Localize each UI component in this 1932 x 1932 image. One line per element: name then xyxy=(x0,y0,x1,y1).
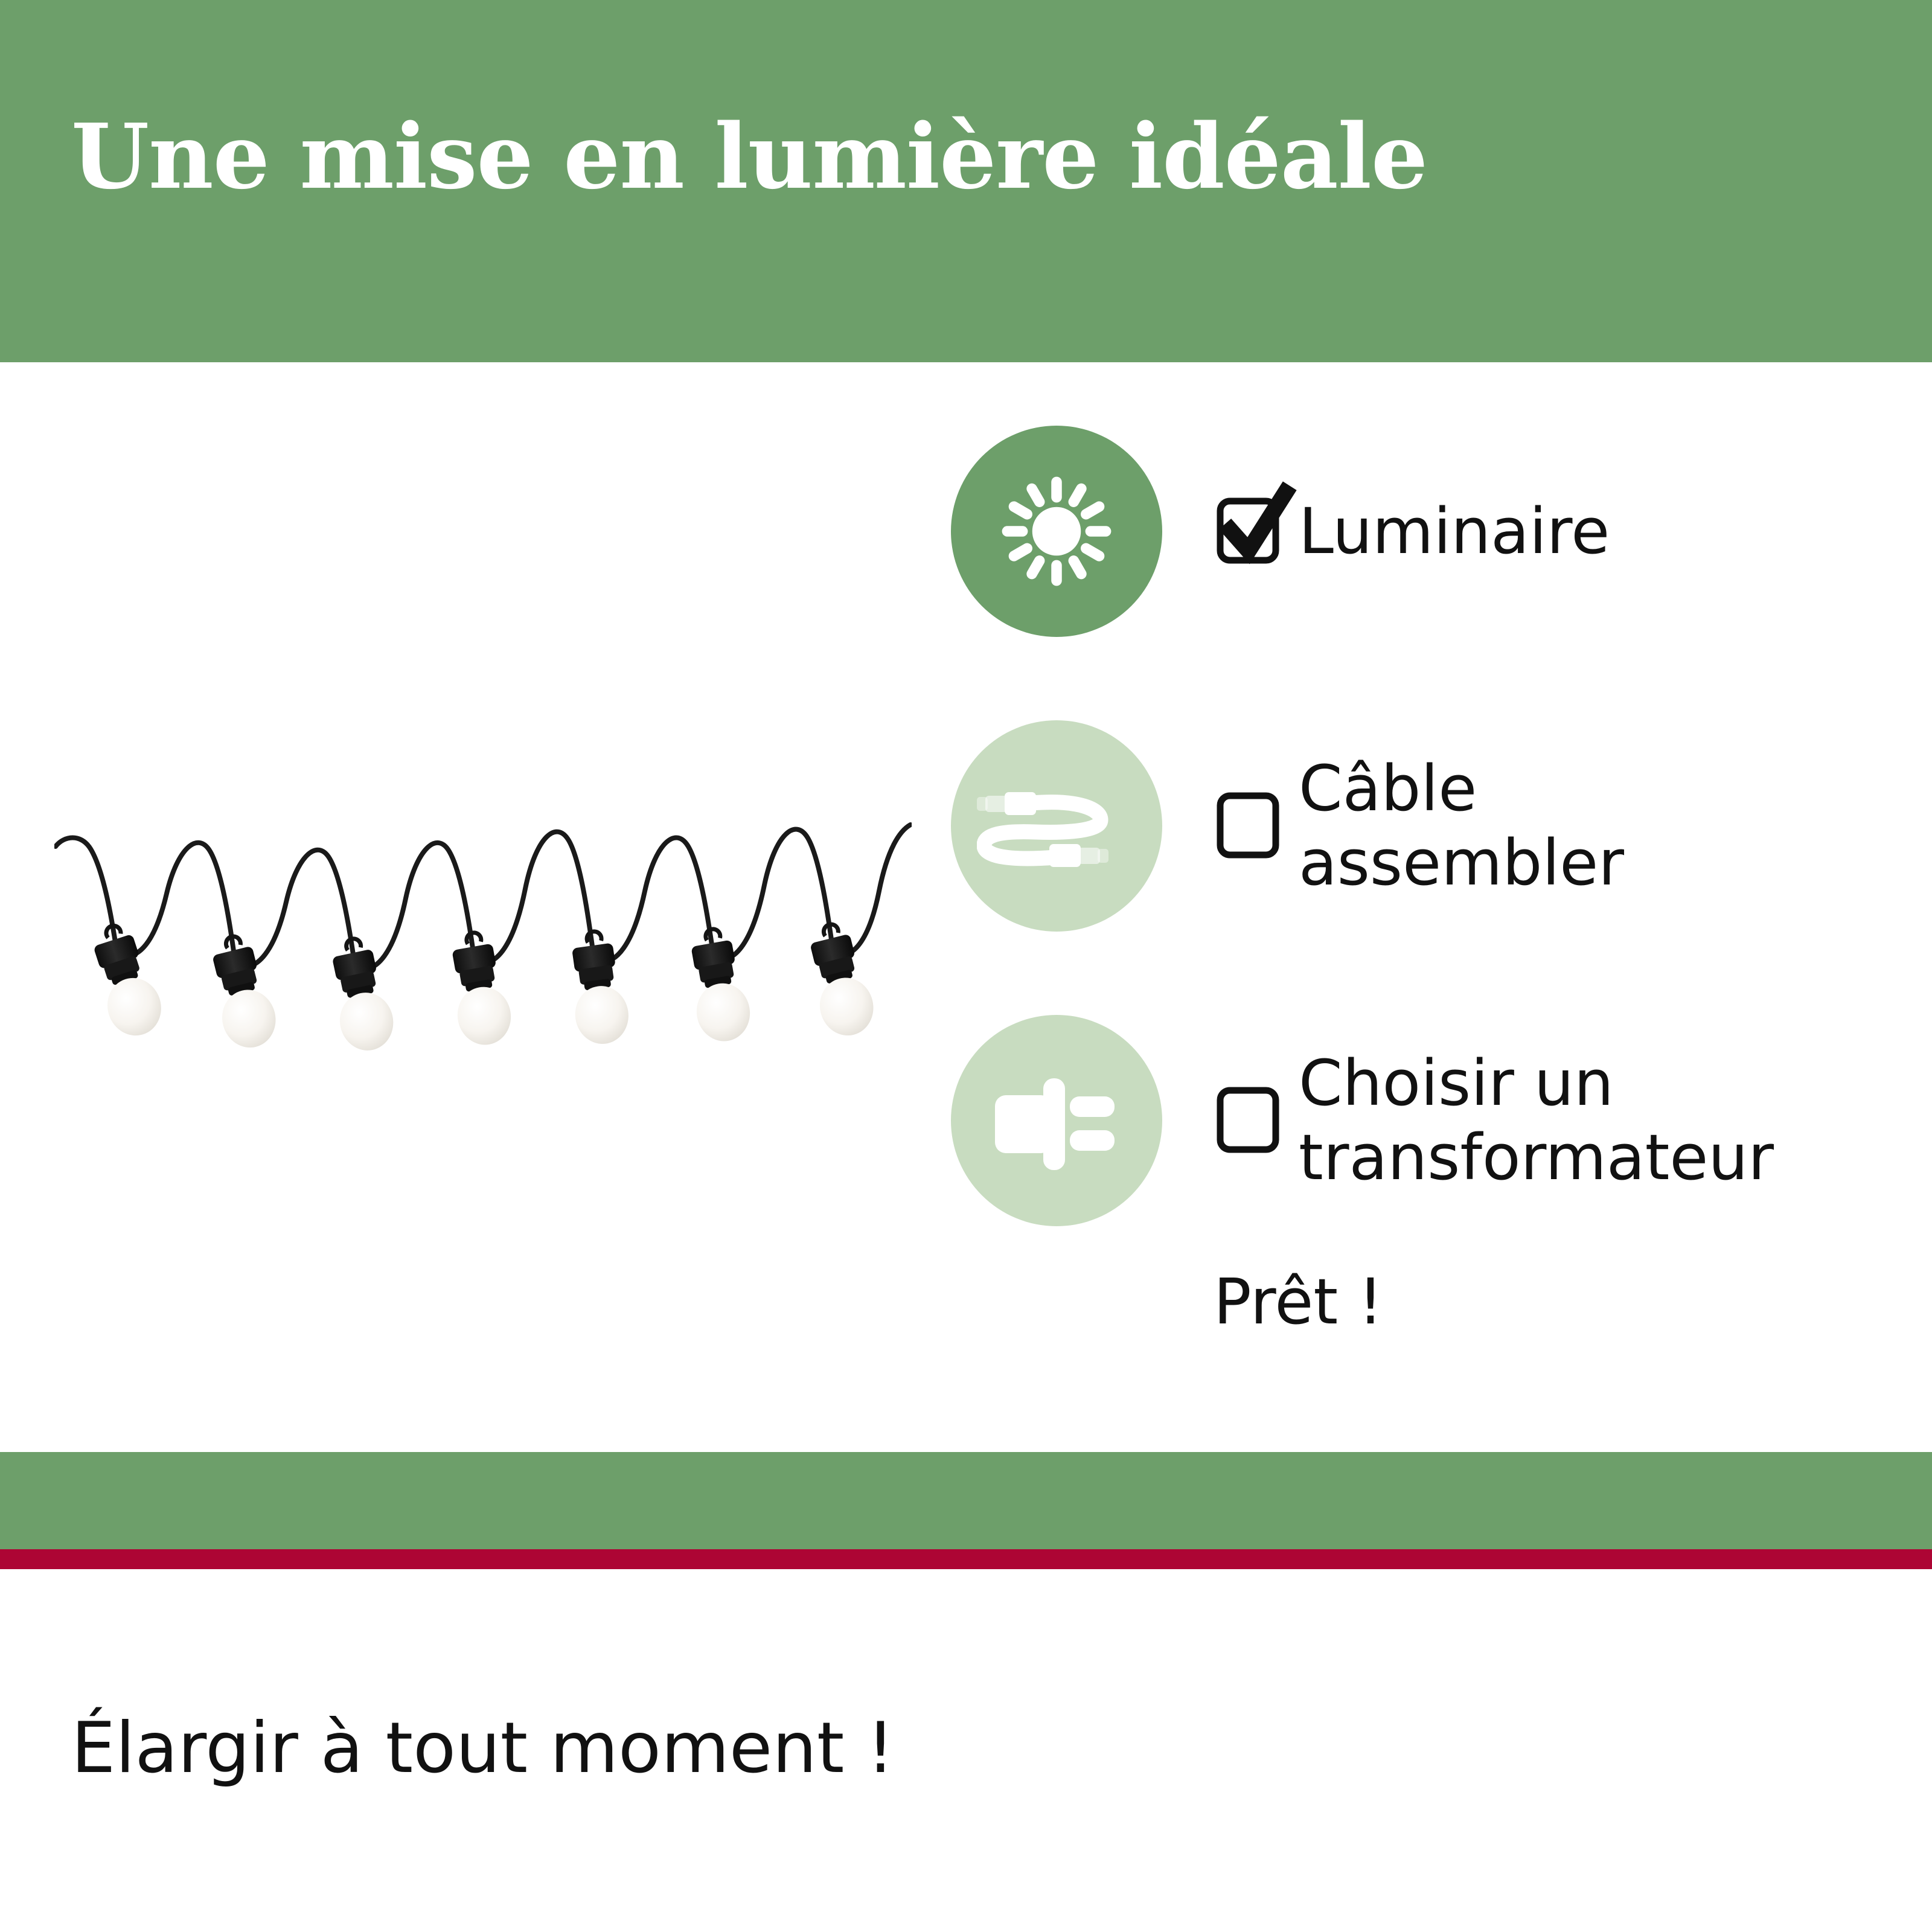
checkbox-empty-icon xyxy=(1212,769,1302,866)
sun-icon xyxy=(987,462,1126,601)
setup-checklist: Luminaire Câble assembler xyxy=(951,423,1893,1307)
plug-icon xyxy=(984,1060,1129,1181)
ready-status-text: Prêt ! xyxy=(1214,1265,1383,1339)
header-band: Une mise en lumière idéale xyxy=(0,0,1932,362)
footer-tagline: Élargir à tout moment ! xyxy=(71,1707,895,1789)
lower-green-band xyxy=(0,1452,1932,1549)
sun-icon-badge xyxy=(951,426,1162,637)
string-light-product-image xyxy=(54,773,912,1087)
checklist-row-luminaire[interactable]: Luminaire xyxy=(951,423,1893,640)
checkbox-luminaire[interactable] xyxy=(1220,501,1272,561)
checkbox-cable[interactable] xyxy=(1220,796,1272,856)
checkbox-checked-icon xyxy=(1212,475,1302,571)
checklist-label-luminaire: Luminaire xyxy=(1299,494,1610,569)
checklist-row-cable[interactable]: Câble assembler xyxy=(951,717,1893,935)
plug-icon-badge xyxy=(951,1015,1162,1226)
checkbox-transformer[interactable] xyxy=(1220,1090,1272,1151)
checkbox-empty-icon xyxy=(1212,1064,1302,1160)
checklist-row-transformer[interactable]: Choisir un transformateur xyxy=(951,1012,1893,1229)
lower-red-accent-band xyxy=(0,1549,1932,1569)
checklist-label-cable: Câble assembler xyxy=(1299,752,1624,900)
cable-icon xyxy=(977,766,1137,886)
checklist-label-transformer: Choisir un transformateur xyxy=(1299,1046,1774,1194)
page-title: Une mise en lumière idéale xyxy=(71,110,1427,203)
cable-icon-badge xyxy=(951,720,1162,932)
